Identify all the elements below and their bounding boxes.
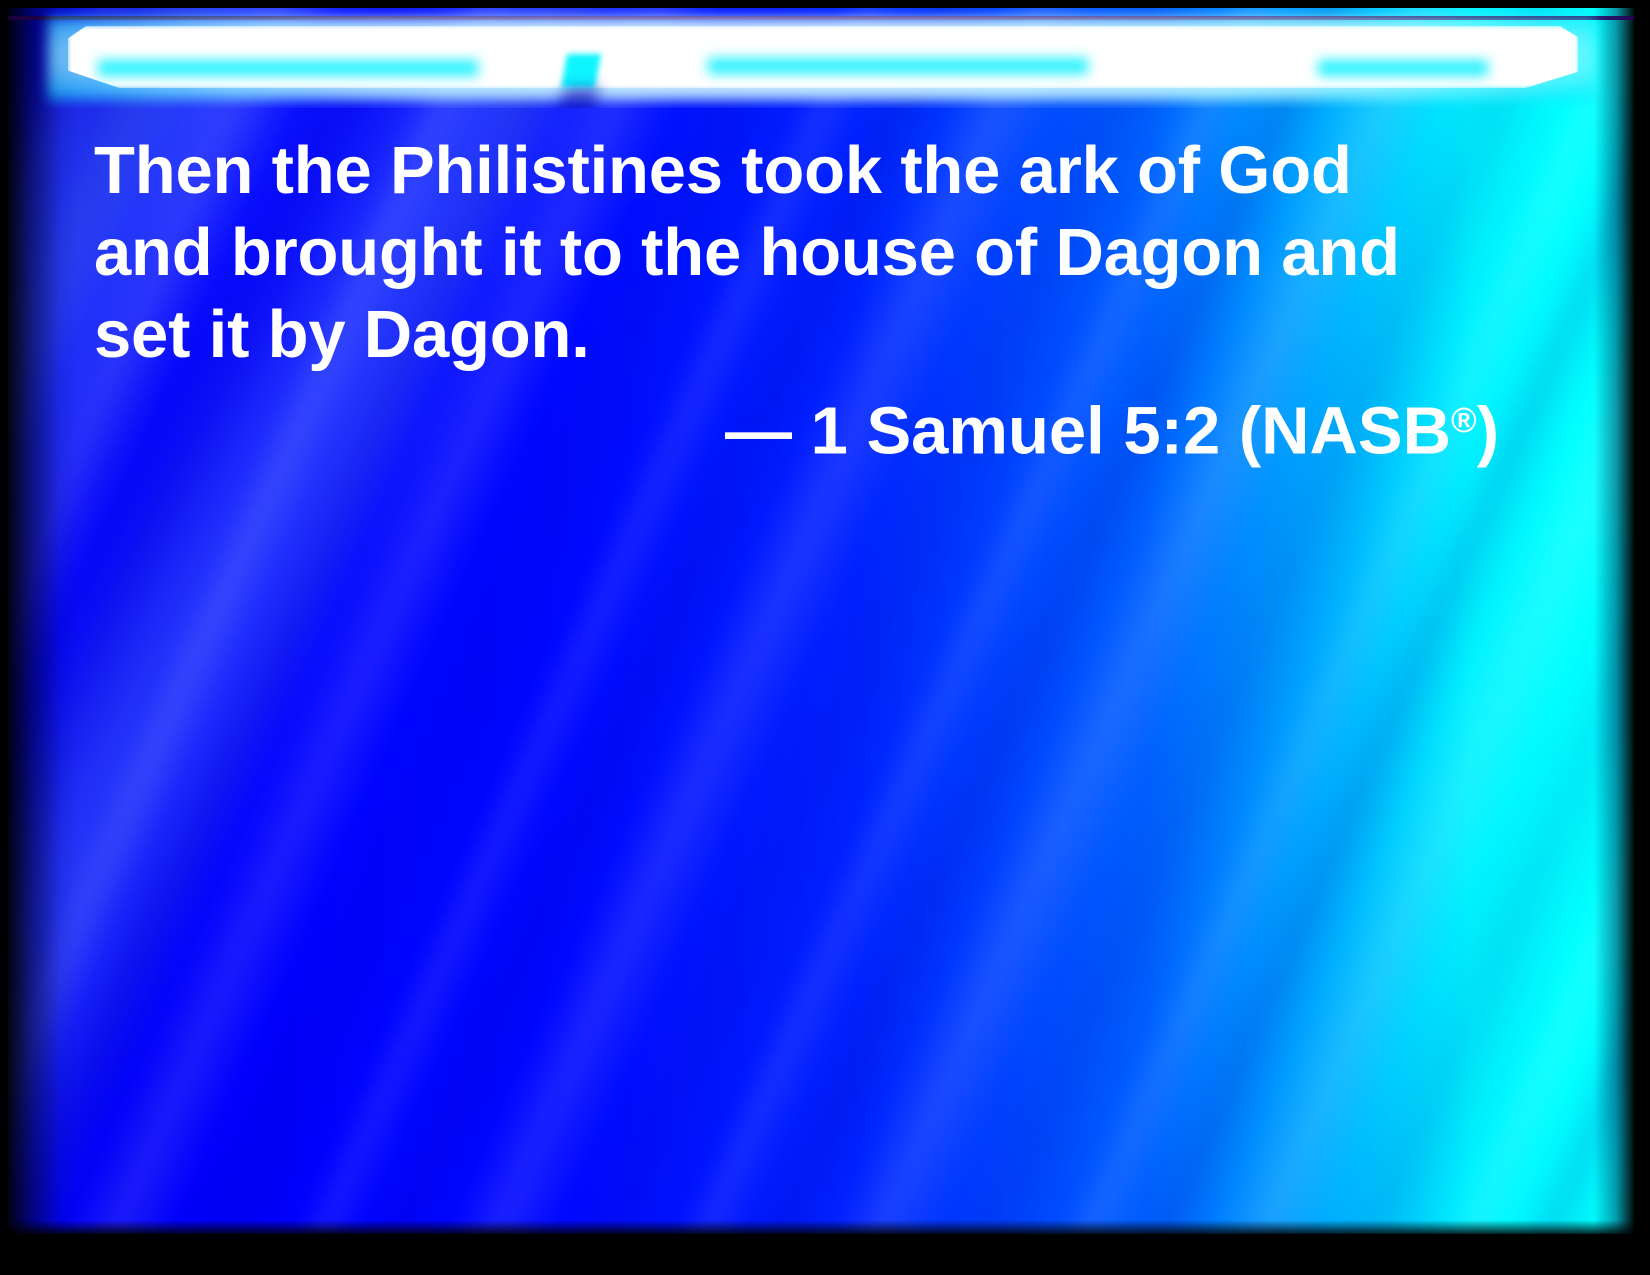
background-bottom-vignette [8,1220,1634,1234]
attribution-dash: — [725,394,811,469]
background-left-vignette [8,8,78,1234]
verse-attribution: — 1 Samuel 5:2 (NASB®) [94,380,1499,473]
verse-slide: Then the Philistines took the ark of God… [0,0,1650,1275]
attribution-closing: ) [1477,394,1499,469]
slide-artwork-frame: Then the Philistines took the ark of God… [8,8,1634,1234]
band-cyan-streak-2 [708,58,1088,74]
band-core [68,26,1578,88]
verse-text: Then the Philistines took the ark of God… [94,130,1484,376]
registered-trademark-icon: ® [1451,401,1477,440]
band-cyan-notch [561,54,601,88]
attribution-reference: 1 Samuel 5:2 (NASB [811,394,1451,469]
background-right-vignette [1594,8,1634,1234]
band-cyan-streak-1 [98,60,478,76]
top-highlight-band [8,8,1634,108]
band-cyan-streak-3 [1318,60,1488,76]
